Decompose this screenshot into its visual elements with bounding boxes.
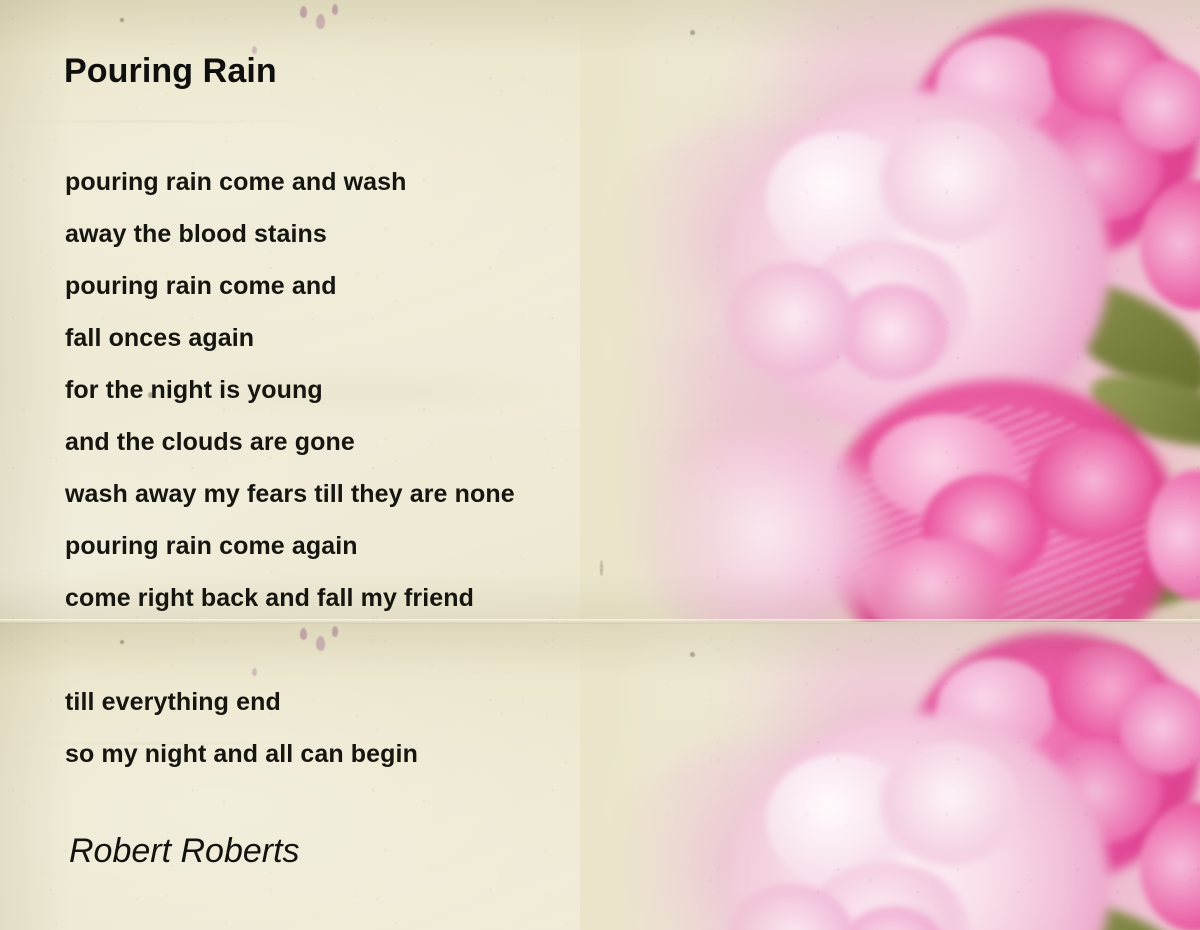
poem-line: pouring rain come and (65, 260, 515, 312)
poem-author: Robert Roberts (69, 832, 300, 871)
poem-line: fall onces again (65, 312, 515, 364)
poem-line: pouring rain come again (65, 520, 515, 572)
poem-line: so my night and all can begin (65, 728, 515, 780)
poem-line: wash away my fears till they are none (65, 468, 515, 520)
poem-line: come right back and fall my friend (65, 572, 515, 624)
poem-line: away the blood stains (65, 208, 515, 260)
poem-stanza-break (65, 624, 515, 676)
poem-text-layer: Pouring Rain pouring rain come and wash … (0, 0, 1200, 930)
poem-body: pouring rain come and wash away the bloo… (65, 156, 515, 780)
poem-line: pouring rain come and wash (65, 156, 515, 208)
poem-image: Pouring Rain pouring rain come and wash … (0, 0, 1200, 930)
poem-line: for the night is young (65, 364, 515, 416)
poem-line: till everything end (65, 676, 515, 728)
poem-title: Pouring Rain (64, 52, 277, 91)
poem-line: and the clouds are gone (65, 416, 515, 468)
